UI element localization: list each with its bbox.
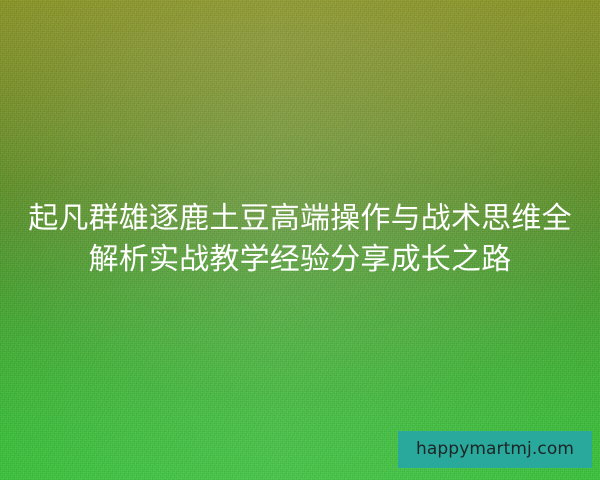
watermark-label: happymartmj.com bbox=[416, 440, 574, 459]
cover-banner: 起凡群雄逐鹿土豆高端操作与战术思维全 解析实战教学经验分享成长之路 happym… bbox=[0, 0, 600, 480]
headline-line-2: 解析实战教学经验分享成长之路 bbox=[16, 239, 584, 280]
headline-title: 起凡群雄逐鹿土豆高端操作与战术思维全 解析实战教学经验分享成长之路 bbox=[0, 198, 600, 280]
headline-line-1: 起凡群雄逐鹿土豆高端操作与战术思维全 bbox=[16, 198, 584, 239]
watermark-badge: happymartmj.com bbox=[398, 431, 592, 468]
